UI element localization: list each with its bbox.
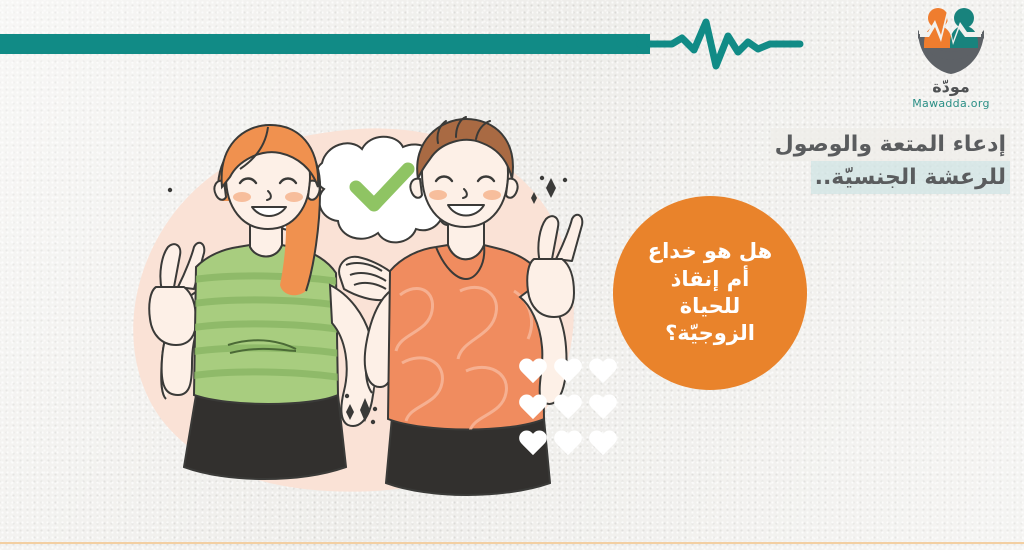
circle-line-2: أم إنقاذ (671, 266, 750, 293)
circle-line-1: هل هو خداع (648, 238, 772, 265)
heart-icon (518, 359, 548, 387)
logo-latin-name: Mawadda.org (912, 97, 990, 110)
orange-question-circle: هل هو خداع أم إنقاذ للحياة الزوجيّة؟ (613, 196, 807, 390)
logo-arabic-name: مودّة (932, 77, 970, 96)
woman-skirt (184, 395, 346, 479)
heart-icon (588, 431, 618, 459)
circle-line-4: الزوجيّة؟ (665, 320, 755, 347)
poster-canvas: إدعاء المتعة والوصول للرعشة الجنسيّة.. ه… (0, 0, 1024, 550)
bottom-rule (0, 542, 1024, 544)
heart-icon (588, 395, 618, 423)
hearts-grid (516, 358, 620, 466)
heart-icon (553, 395, 583, 423)
heart-icon (553, 431, 583, 459)
logo-mark-icon (908, 4, 994, 76)
ecg-waveform-icon (0, 16, 810, 76)
heart-icon (518, 395, 548, 423)
headline-line-1: إدعاء المتعة والوصول (771, 128, 1010, 161)
headline-block: إدعاء المتعة والوصول للرعشة الجنسيّة.. (570, 128, 1010, 194)
top-teal-ecg-bar (0, 16, 810, 76)
circle-line-3: للحياة (680, 293, 740, 320)
heart-icon (588, 359, 618, 387)
mawadda-logo[interactable]: مودّة Mawadda.org (892, 4, 1010, 122)
headline-line-2: للرعشة الجنسيّة.. (811, 161, 1010, 194)
heart-icon (518, 431, 548, 459)
heart-icon (553, 359, 583, 387)
